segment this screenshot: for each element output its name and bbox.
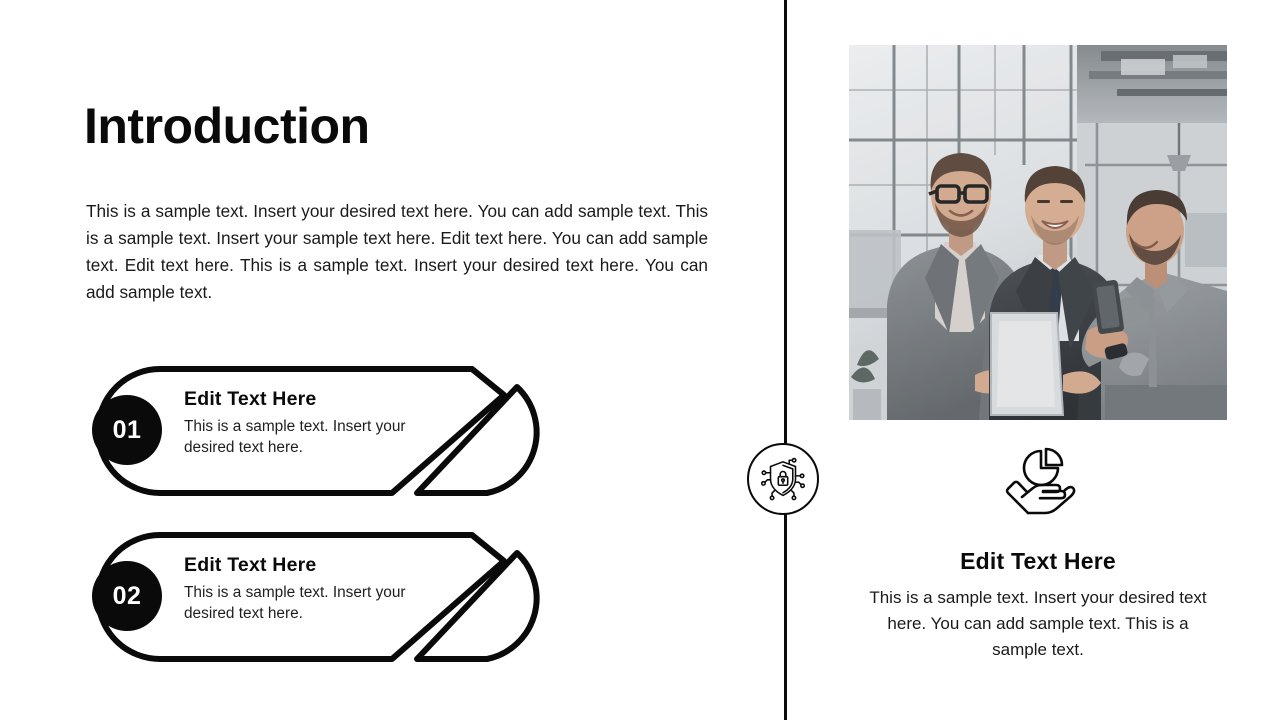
vertical-divider: [784, 0, 787, 720]
banner-text-block-01: Edit Text Here This is a sample text. In…: [184, 388, 424, 458]
hand-holding-pie-chart-icon: [1000, 443, 1078, 515]
banner-number-badge-01: 01: [92, 395, 162, 465]
intro-paragraph: This is a sample text. Insert your desir…: [86, 198, 708, 306]
banner-heading: Edit Text Here: [184, 388, 424, 411]
team-photo: [849, 45, 1227, 420]
page-title: Introduction: [84, 100, 370, 153]
banner-number-label: 02: [113, 584, 142, 609]
banner-text-block-02: Edit Text Here This is a sample text. In…: [184, 554, 424, 624]
banner-body: This is a sample text. Insert your desir…: [184, 582, 424, 624]
banner-item-02[interactable]: 02 Edit Text Here This is a sample text.…: [92, 531, 562, 663]
right-panel-heading: Edit Text Here: [849, 548, 1227, 575]
banner-heading: Edit Text Here: [184, 554, 424, 577]
banner-number-badge-02: 02: [92, 561, 162, 631]
shield-lock-network-icon: [747, 443, 819, 515]
banner-body: This is a sample text. Insert your desir…: [184, 416, 424, 458]
right-panel-paragraph: This is a sample text. Insert your desir…: [862, 585, 1214, 663]
banner-item-01[interactable]: 01 Edit Text Here This is a sample text.…: [92, 365, 562, 497]
banner-number-label: 01: [113, 418, 142, 443]
slide-canvas: Introduction This is a sample text. Inse…: [0, 0, 1280, 720]
